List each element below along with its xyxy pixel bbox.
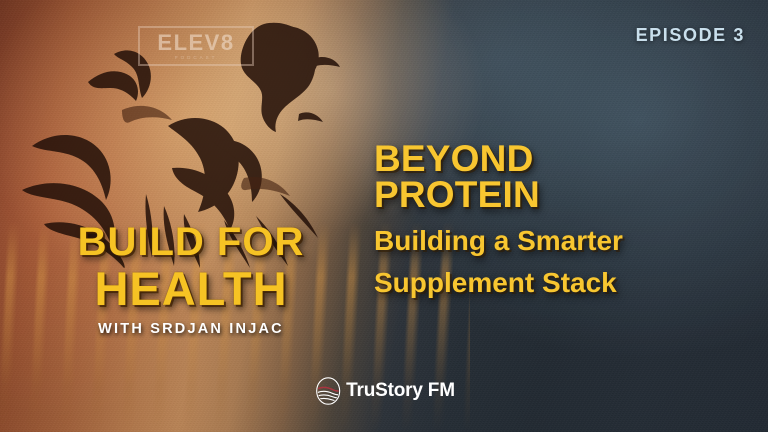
episode-subtitle-line-1: Building a Smarter — [374, 225, 746, 256]
episode-label: EPISODE 3 — [636, 25, 745, 46]
network-logo: TruStory FM — [313, 376, 455, 406]
episode-cover: ELEV8 PODCAST EPISODE 3 BUILD FOR HEALTH… — [0, 0, 768, 432]
episode-title-main-line-1: BEYOND — [374, 141, 746, 177]
network-name-text: TruStory FM — [346, 380, 455, 402]
episode-title-main-line-2: PROTEIN — [374, 177, 746, 213]
show-host-credit: WITH SRDJAN INJAC — [46, 321, 336, 337]
show-logo-lockup: BUILD FOR HEALTH WITH SRDJAN INJAC — [46, 222, 336, 337]
elev8-tagline-text: PODCAST — [175, 56, 218, 61]
show-title-line-2: HEALTH — [46, 265, 336, 312]
elev8-watermark: ELEV8 PODCAST — [138, 26, 254, 66]
episode-subtitle-line-2: Supplement Stack — [374, 267, 746, 298]
elev8-brand-text: ELEV8 — [157, 32, 234, 54]
episode-title-block: BEYOND PROTEIN Building a Smarter Supple… — [374, 141, 746, 298]
show-title-line-1: BUILD FOR — [46, 222, 336, 262]
trustory-oval-wave-icon — [313, 376, 343, 406]
